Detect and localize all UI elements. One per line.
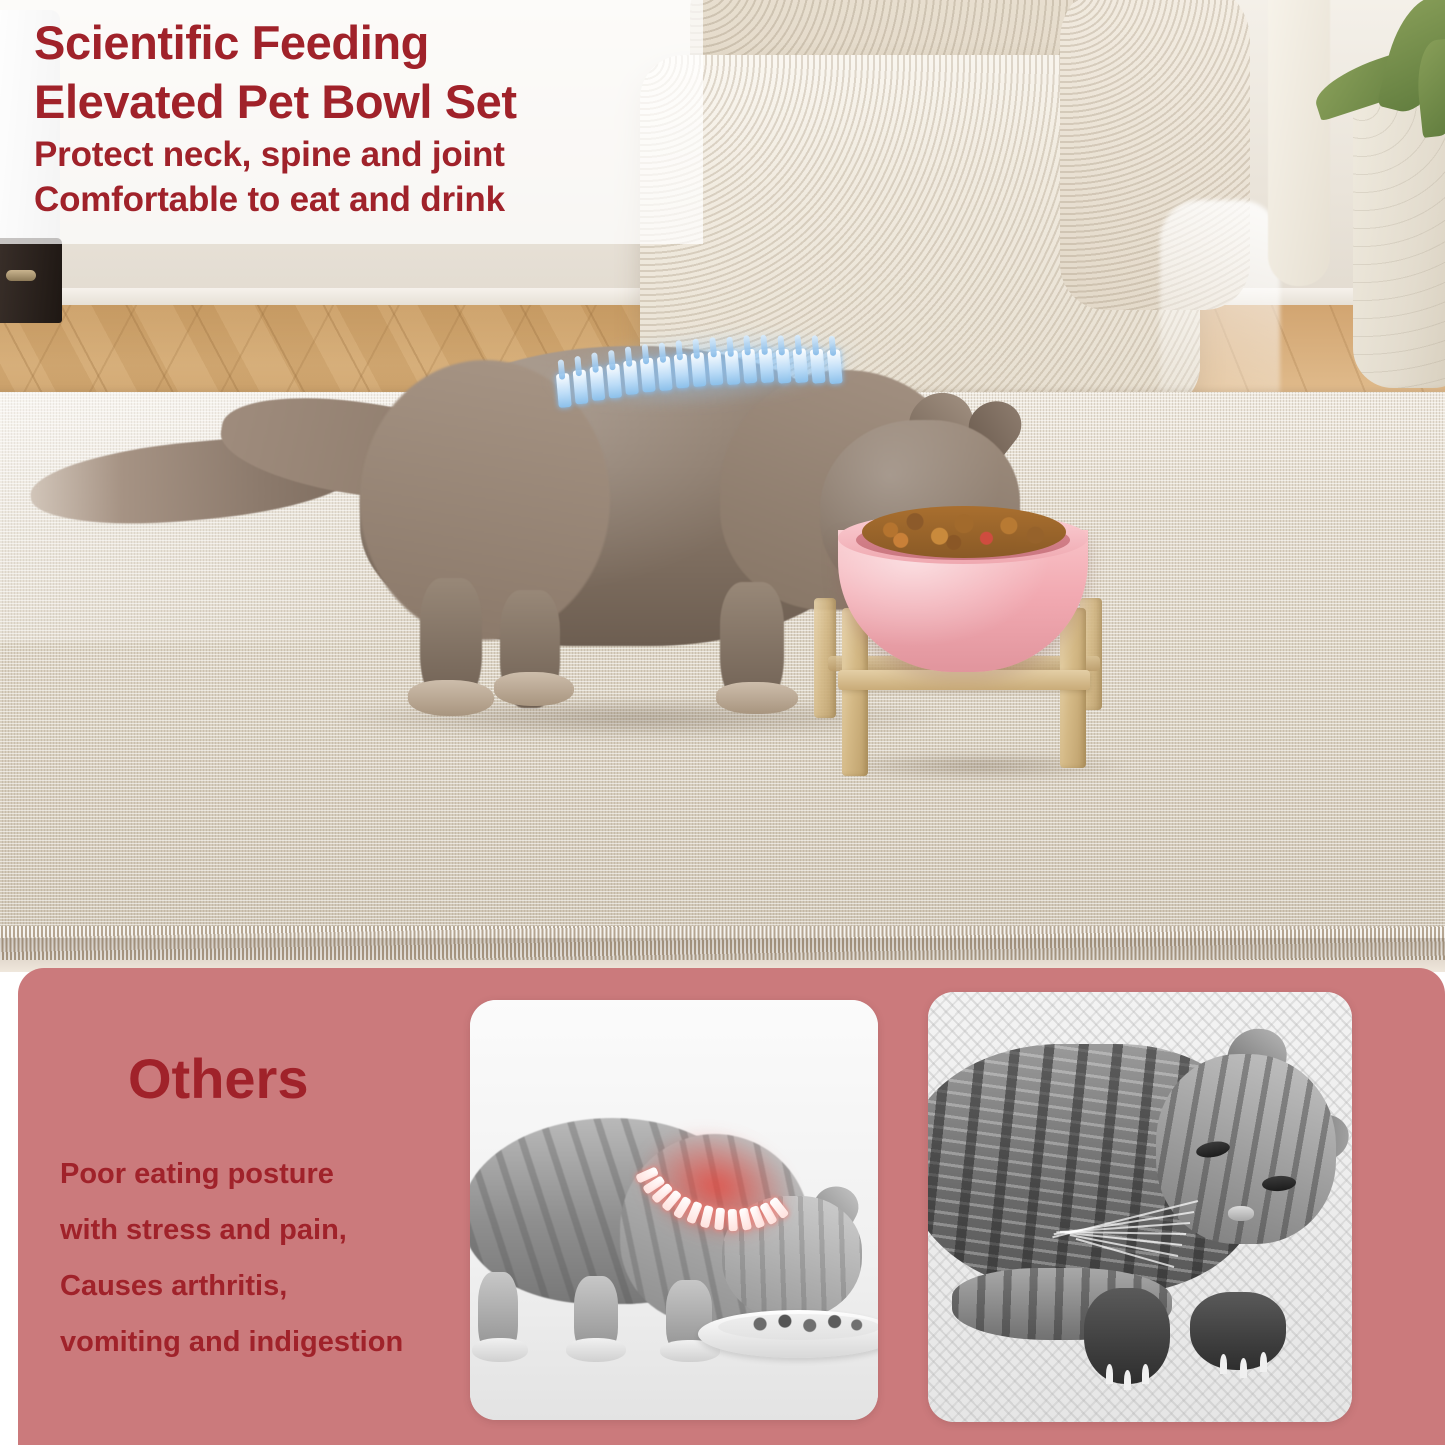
cat-claw [1124, 1370, 1131, 1390]
headline-title-line1: Scientific Feeding [34, 14, 703, 71]
cat-paw [494, 672, 574, 706]
headline-title-line2: Elevated Pet Bowl Set [34, 73, 703, 130]
cat-claw [1260, 1352, 1267, 1372]
headline-subtitle-line2: Comfortable to eat and drink [34, 177, 703, 222]
vertebra [727, 1209, 737, 1231]
resting-cat-photo [928, 992, 1352, 1422]
comparison-body-line1: Poor eating posture [60, 1146, 480, 1202]
comparison-body-line2: with stress and pain, [60, 1202, 480, 1258]
rug-drop-shadow [0, 938, 1445, 972]
cat-paw [472, 1338, 528, 1362]
kibble-food [862, 506, 1066, 558]
comparison-heading: Others [128, 1048, 309, 1110]
cat-paw [716, 682, 798, 714]
vertebra [714, 1208, 725, 1231]
comparison-body-line4: vomiting and indigestion [60, 1314, 480, 1370]
strained-spine-overlay-icon [641, 1133, 791, 1240]
stand-leg [842, 608, 868, 776]
stand-rail [838, 670, 1090, 690]
cat-claw [1220, 1354, 1227, 1374]
cat-nose [1228, 1206, 1254, 1221]
cat-claw [1142, 1364, 1149, 1384]
appliance-handle [6, 270, 36, 281]
cat-paw [566, 1338, 626, 1362]
cat-claw [1240, 1358, 1247, 1378]
headline-overlay-panel: Scientific Feeding Elevated Pet Bowl Set… [0, 0, 703, 244]
cat-paw [1190, 1292, 1286, 1370]
comparison-body: Poor eating posture with stress and pain… [60, 1146, 480, 1370]
product-infographic: Scientific Feeding Elevated Pet Bowl Set… [0, 0, 1445, 1445]
comparison-body-line3: Causes arthritis, [60, 1258, 480, 1314]
cat-claw [1106, 1364, 1113, 1384]
poor-posture-photo [470, 1000, 878, 1420]
headline-subtitle-line1: Protect neck, spine and joint [34, 132, 703, 177]
kibble-food [738, 1312, 876, 1336]
background-vase [1268, 0, 1330, 286]
cat-paw [408, 680, 494, 716]
